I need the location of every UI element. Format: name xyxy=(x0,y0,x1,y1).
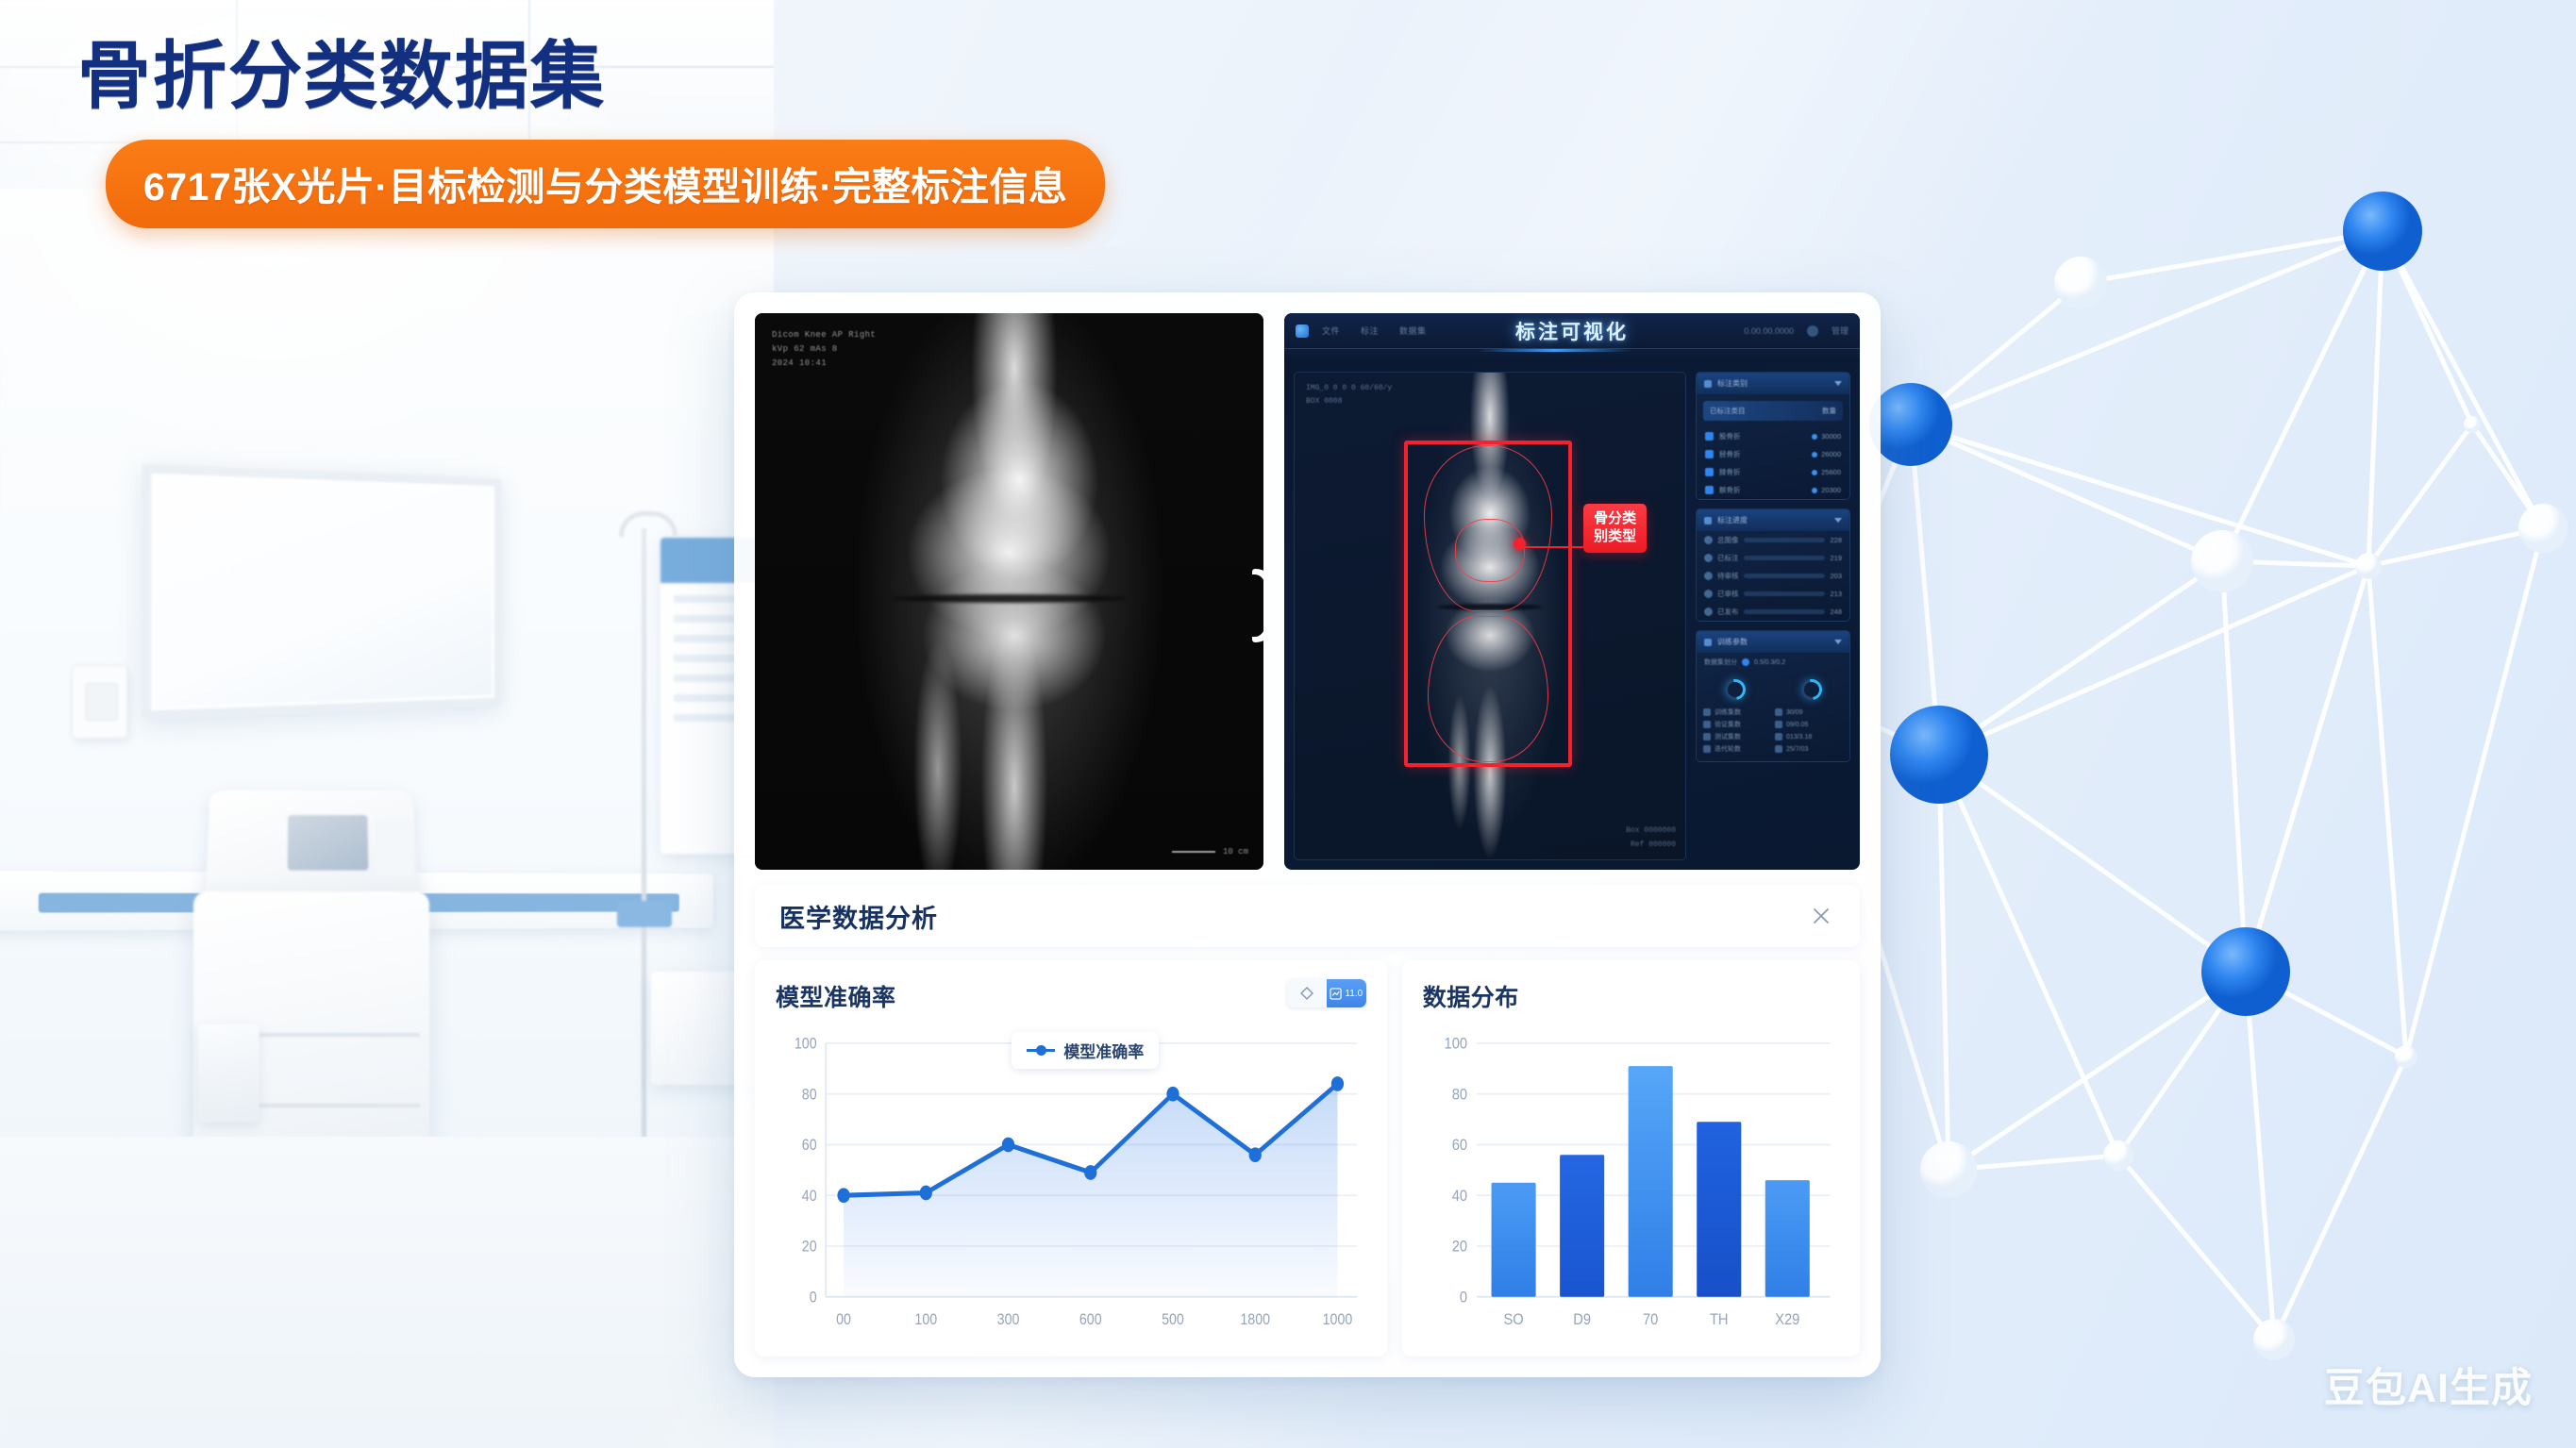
svg-text:80: 80 xyxy=(1452,1086,1468,1103)
bar-chart-title: 数据分布 xyxy=(1423,979,1839,1013)
training-metric-label: 验证集数 xyxy=(1715,720,1741,729)
progress-name: 已标注 xyxy=(1717,553,1739,563)
progress-value: 203 xyxy=(1830,572,1842,580)
category-name: 胫骨折 xyxy=(1719,449,1741,459)
training-metric-value: 25/7/03 xyxy=(1786,746,1808,753)
category-row[interactable]: 股骨折 30000 xyxy=(1697,427,1849,445)
progress-name: 待审核 xyxy=(1717,571,1739,581)
app-logo-icon xyxy=(1296,325,1309,338)
watermark: 豆包AI生成 xyxy=(2324,1356,2533,1414)
page-title: 骨折分类数据集 xyxy=(77,17,1105,123)
svg-text:40: 40 xyxy=(1452,1188,1468,1205)
svg-text:60: 60 xyxy=(802,1137,817,1154)
progress-track xyxy=(1744,591,1826,596)
svg-text:20: 20 xyxy=(802,1239,817,1256)
chevron-down-icon[interactable] xyxy=(1834,518,1842,523)
annotation-label-line-2: 别类型 xyxy=(1594,528,1636,546)
progress-row: 待审核 203 xyxy=(1697,567,1849,585)
category-color-chip xyxy=(1705,432,1714,441)
progress-value: 219 xyxy=(1830,554,1842,562)
count-dot-icon xyxy=(1812,488,1817,493)
sidebar-panel-progress: 标注进度 总图像 228 已标注 xyxy=(1696,508,1850,622)
app-window: Dicom Knee AP Right kVp 62 mAs 8 2024 10… xyxy=(734,292,1881,1377)
training-metric-value: 013/3.18 xyxy=(1786,734,1812,741)
panel-title-progress: 标注进度 xyxy=(1717,515,1748,525)
metric-icon xyxy=(1704,607,1713,616)
training-gauges xyxy=(1697,672,1849,704)
count-dot-icon xyxy=(1812,452,1817,458)
progress-value: 228 xyxy=(1830,536,1842,544)
gauge-icon xyxy=(1797,675,1826,705)
canvas-footer-overlay: Box 0000000 Ref 000000 xyxy=(1626,824,1676,852)
xray-meta-line-2: kVp 62 mAs 8 xyxy=(772,342,876,357)
user-label[interactable]: 管理 xyxy=(1832,325,1848,337)
wall-switch xyxy=(72,665,127,740)
viewer-panes: Dicom Knee AP Right kVp 62 mAs 8 2024 10… xyxy=(755,313,1860,870)
metric-icon xyxy=(1775,721,1782,728)
category-row[interactable]: 腓骨折 25600 xyxy=(1697,463,1849,481)
svg-text:0: 0 xyxy=(810,1289,817,1306)
status-code: 0.00.00.0000 xyxy=(1744,326,1794,336)
panel-header-training[interactable]: 训练参数 xyxy=(1697,631,1849,653)
svg-text:X29: X29 xyxy=(1775,1311,1799,1328)
annotation-sidebar: 标注类别 已标注类目 数量 股骨折 30000 xyxy=(1696,372,1850,860)
category-row[interactable]: 髌骨折 20300 xyxy=(1697,481,1849,499)
canvas-meta-bottom-2: Ref 000000 xyxy=(1626,839,1676,852)
count-dot-icon xyxy=(1812,470,1817,475)
category-name: 腓骨折 xyxy=(1719,467,1741,477)
category-count: 30000 xyxy=(1821,432,1841,441)
svg-text:1800: 1800 xyxy=(1240,1311,1270,1328)
progress-track xyxy=(1744,574,1826,578)
annotation-canvas[interactable]: 骨分类 别类型 IMG_0 0 0 0 60/60/y BOX 0008 Box… xyxy=(1294,372,1686,860)
category-count: 25600 xyxy=(1821,468,1841,476)
progress-row: 已发布 248 xyxy=(1697,603,1849,621)
progress-row: 已审核 213 xyxy=(1697,585,1849,603)
panel-title-categories: 标注类别 xyxy=(1717,378,1748,389)
dataset-split-value: 0.5/0.3/0.2 xyxy=(1754,659,1785,666)
patella-segmentation-outline xyxy=(1455,519,1526,582)
metric-icon xyxy=(1704,590,1713,598)
svg-text:300: 300 xyxy=(997,1311,1020,1328)
xray-image xyxy=(755,313,1263,870)
category-color-chip xyxy=(1705,468,1714,476)
svg-text:100: 100 xyxy=(914,1311,937,1328)
category-color-chip xyxy=(1705,450,1714,458)
svg-text:80: 80 xyxy=(802,1086,817,1103)
progress-name: 已审核 xyxy=(1717,589,1739,599)
chart-view-toggle[interactable]: 11.0 xyxy=(1287,979,1366,1007)
panel-title-training: 训练参数 xyxy=(1717,637,1748,647)
progress-value: 248 xyxy=(1830,607,1842,616)
svg-text:40: 40 xyxy=(802,1188,817,1205)
training-metric-label: 测试集数 xyxy=(1715,732,1741,741)
progress-track xyxy=(1744,556,1826,560)
training-metric-label: 训练集数 xyxy=(1715,707,1741,717)
svg-text:60: 60 xyxy=(1452,1137,1468,1154)
categories-subheader-left: 已标注类目 xyxy=(1710,406,1746,416)
metric-icon xyxy=(1703,745,1711,753)
annotation-nav[interactable]: 文件 标注 数据集 xyxy=(1322,325,1427,337)
dataset-split-row: 数据集划分 0.5/0.3/0.2 xyxy=(1697,653,1849,672)
canvas-meta-line-1: IMG_0 0 0 0 60/60/y xyxy=(1306,382,1392,395)
progress-track xyxy=(1744,538,1826,542)
nav-item-annotate[interactable]: 标注 xyxy=(1361,325,1379,337)
training-metrics-grid: 训练集数 30/09 验证集数 09/0.05 测试集数 013/3.18 迭代… xyxy=(1697,704,1849,761)
line-chart-card: 模型准确率 11.0 xyxy=(755,960,1387,1356)
nav-item-dataset[interactable]: 数据集 xyxy=(1399,325,1427,337)
feature-badge: 6717张X光片·目标检测与分类模型训练·完整标注信息 xyxy=(106,140,1105,228)
svg-text:20: 20 xyxy=(1452,1239,1468,1256)
legend-label: 模型准确率 xyxy=(1063,1039,1144,1062)
panel-header-categories[interactable]: 标注类别 xyxy=(1697,373,1849,394)
category-count: 26000 xyxy=(1821,450,1841,458)
progress-name: 已发布 xyxy=(1717,607,1739,617)
svg-text:1000: 1000 xyxy=(1323,1311,1353,1328)
toggle-option-chart[interactable]: 11.0 xyxy=(1327,979,1366,1007)
canvas-metadata-overlay: IMG_0 0 0 0 60/60/y BOX 0008 xyxy=(1306,382,1392,409)
metric-icon xyxy=(1775,745,1782,753)
metric-icon xyxy=(1704,536,1713,544)
svg-text:500: 500 xyxy=(1162,1311,1184,1328)
line-chart-title: 模型准确率 xyxy=(776,979,1366,1013)
annotation-label-callout: 骨分类 别类型 xyxy=(1583,504,1647,553)
sidebar-panel-training: 训练参数 数据集划分 0.5/0.3/0.2 xyxy=(1696,630,1850,762)
line-chart-legend: 模型准确率 xyxy=(1012,1032,1159,1069)
scale-bar-line xyxy=(1172,851,1215,853)
sidebar-panel-categories: 标注类别 已标注类目 数量 股骨折 30000 xyxy=(1696,372,1850,500)
nav-item-file[interactable]: 文件 xyxy=(1322,325,1340,337)
svg-text:100: 100 xyxy=(1444,1036,1467,1053)
analysis-dialog-header: 医学数据分析 xyxy=(755,885,1860,947)
floor xyxy=(0,1137,774,1448)
xray-meta-line-1: Dicom Knee AP Right xyxy=(772,328,876,342)
close-icon[interactable] xyxy=(1807,902,1835,930)
svg-text:D9: D9 xyxy=(1573,1311,1591,1328)
svg-text:100: 100 xyxy=(795,1035,817,1052)
xray-lightbox xyxy=(142,464,501,720)
metric-icon xyxy=(1775,708,1782,716)
annotation-body: 骨分类 别类型 IMG_0 0 0 0 60/60/y BOX 0008 Box… xyxy=(1284,362,1860,870)
category-name: 股骨折 xyxy=(1719,431,1741,441)
annotation-topbar-right: 0.00.00.0000 管理 xyxy=(1744,325,1848,337)
dialog-title: 医学数据分析 xyxy=(779,898,938,935)
category-color-chip xyxy=(1705,486,1714,494)
toggle-option-diamond[interactable] xyxy=(1287,979,1327,1007)
chevron-down-icon[interactable] xyxy=(1834,381,1842,386)
svg-text:0: 0 xyxy=(1460,1289,1467,1306)
svg-text:00: 00 xyxy=(836,1311,851,1328)
panel-header-progress[interactable]: 标注进度 xyxy=(1697,509,1849,531)
metric-icon xyxy=(1775,733,1782,741)
svg-text:600: 600 xyxy=(1079,1311,1102,1328)
metric-icon xyxy=(1704,554,1713,562)
svg-text:TH: TH xyxy=(1710,1311,1729,1328)
chevron-down-icon[interactable] xyxy=(1834,640,1842,644)
training-metric-label: 迭代轮数 xyxy=(1715,744,1741,754)
poster-header: 骨折分类数据集 6717张X光片·目标检测与分类模型训练·完整标注信息 xyxy=(77,17,1105,228)
metric-icon xyxy=(1703,721,1711,728)
metric-icon xyxy=(1703,733,1711,741)
canvas-meta-bottom-1: Box 0000000 xyxy=(1626,824,1676,838)
annotation-leader-line xyxy=(1521,546,1587,548)
annotation-app-pane: 文件 标注 数据集 标注可视化 0.00.00.0000 管理 xyxy=(1284,313,1860,870)
category-row[interactable]: 胫骨折 26000 xyxy=(1697,445,1849,463)
xray-scale-bar: 10 cm xyxy=(1172,847,1248,857)
legend-marker-icon xyxy=(1027,1049,1055,1052)
line-chart-plot: 100 80 60 40 20 0 xyxy=(776,1026,1366,1343)
canvas-meta-line-2: BOX 0008 xyxy=(1306,395,1392,408)
poster-canvas: 骨折分类数据集 6717张X光片·目标检测与分类模型训练·完整标注信息 Dico… xyxy=(0,0,2576,1448)
progress-name: 总图像 xyxy=(1717,535,1739,545)
metric-icon xyxy=(1704,572,1713,580)
toggle-option-chart-label: 11.0 xyxy=(1345,989,1363,999)
charts-row: 模型准确率 11.0 xyxy=(755,960,1860,1356)
xray-viewer-pane[interactable]: Dicom Knee AP Right kVp 62 mAs 8 2024 10… xyxy=(755,313,1263,870)
xray-metadata-overlay: Dicom Knee AP Right kVp 62 mAs 8 2024 10… xyxy=(772,328,876,371)
count-dot-icon xyxy=(1812,434,1817,440)
annotation-topbar: 文件 标注 数据集 标注可视化 0.00.00.0000 管理 xyxy=(1284,313,1860,349)
tibia-segmentation-outline xyxy=(1428,616,1548,762)
progress-track xyxy=(1744,609,1826,614)
joint-space xyxy=(893,594,1127,603)
list-icon xyxy=(1704,380,1712,388)
radiographic-side-marker xyxy=(1252,569,1263,642)
categories-subheader: 已标注类目 数量 xyxy=(1703,401,1843,421)
scale-bar-label: 10 cm xyxy=(1223,847,1248,857)
progress-icon xyxy=(1704,517,1712,524)
annotation-label-line-1: 骨分类 xyxy=(1594,510,1636,528)
split-dot-icon xyxy=(1742,658,1749,666)
bar-chart-card: 数据分布 xyxy=(1402,960,1860,1356)
training-metric-value: 09/0.05 xyxy=(1786,722,1808,728)
progress-row: 已标注 219 xyxy=(1697,549,1849,567)
dataset-split-label: 数据集划分 xyxy=(1704,657,1737,667)
svg-text:70: 70 xyxy=(1643,1311,1659,1328)
gauge-icon xyxy=(1720,675,1749,705)
settings-icon xyxy=(1704,639,1712,646)
category-name: 髌骨折 xyxy=(1719,485,1741,495)
categories-subheader-right: 数量 xyxy=(1822,406,1836,416)
notification-icon[interactable] xyxy=(1807,325,1818,337)
progress-value: 213 xyxy=(1830,590,1842,598)
category-count: 20300 xyxy=(1821,486,1841,494)
svg-text:SO: SO xyxy=(1503,1311,1523,1328)
metric-icon xyxy=(1703,708,1711,716)
training-metric-value: 30/09 xyxy=(1786,709,1803,716)
bar-chart-plot: 100 80 60 40 20 0 SO D9 70 xyxy=(1423,1026,1839,1343)
xray-meta-line-3: 2024 10:41 xyxy=(772,357,876,371)
progress-row: 总图像 228 xyxy=(1697,531,1849,549)
annotation-tabbar[interactable] xyxy=(1284,349,1860,362)
